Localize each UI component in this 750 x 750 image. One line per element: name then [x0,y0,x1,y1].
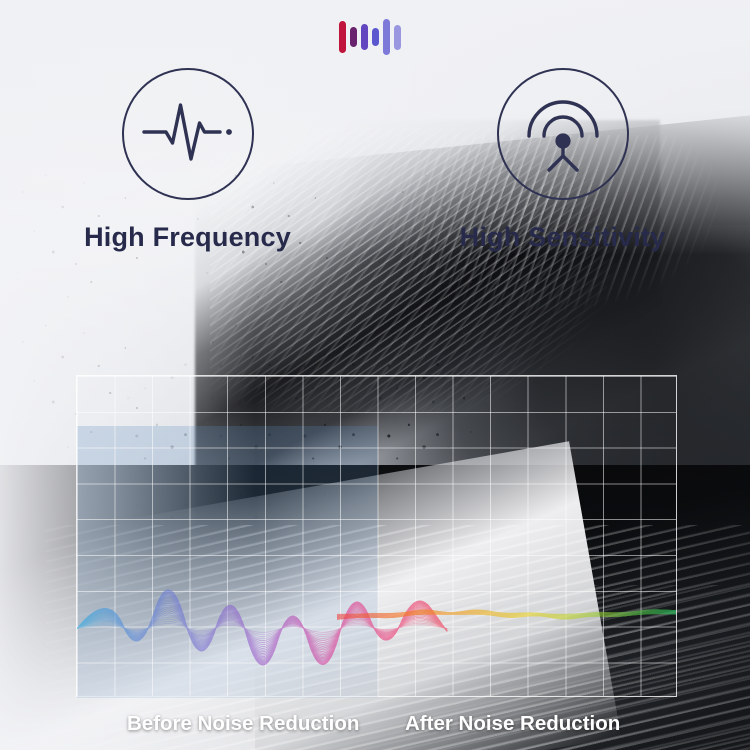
waveform-trace [77,591,447,664]
feature-row: High Frequency High Sensitivity [0,68,750,253]
logo-bar [394,25,401,50]
pulse-waveform-icon [142,96,234,173]
after-waveform-traces [337,610,676,620]
feature-label: High Sensitivity [460,222,666,253]
waveform-svg [77,376,676,696]
feature-label: High Frequency [84,222,291,253]
antenna-signal-icon [521,90,605,179]
audio-waveform-bars-logo [339,18,411,56]
waveform-trace [77,592,447,663]
before-waveform-traces [77,590,447,665]
waveform-trace [77,605,447,650]
feature-icon-circle [122,68,254,200]
logo-bar [339,21,346,53]
waveform-trace [77,591,447,663]
waveform-trace [77,594,447,662]
waveform-trace [77,605,447,650]
logo-bar [361,24,368,50]
after-caption: After Noise Reduction [405,712,620,736]
feature-high-frequency: High Frequency [0,68,375,253]
waveform-trace [77,602,447,654]
feature-high-sensitivity: High Sensitivity [375,68,750,253]
waveform-plot [77,376,676,696]
logo-bar [372,28,379,46]
promo-banner: High Frequency High Sensitivity [0,0,750,750]
waveform-trace [77,602,447,654]
logo-bar [350,27,357,47]
feature-icon-circle [497,68,629,200]
waveform-trace [77,599,447,657]
waveform-comparison-panel [76,375,677,697]
logo-bar [383,19,390,55]
before-caption: Before Noise Reduction [127,712,359,736]
waveform-trace [77,594,447,662]
